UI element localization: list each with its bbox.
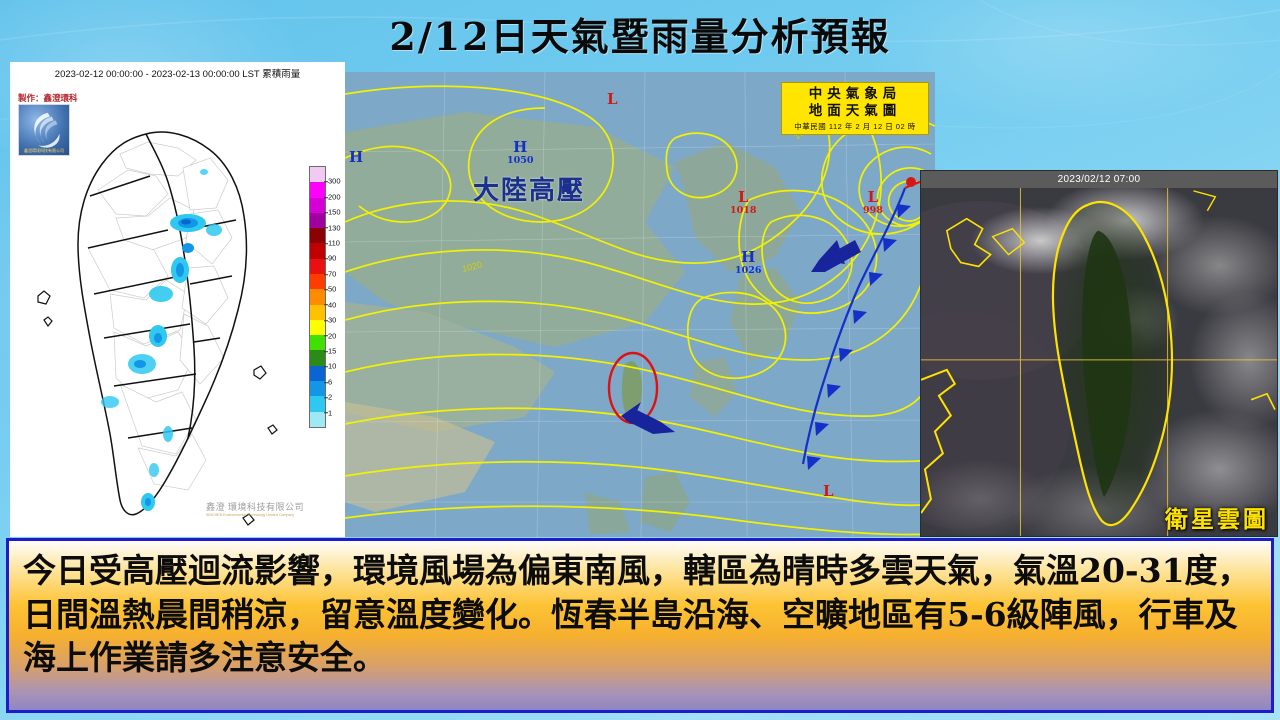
pressure-marker-low-1018: L 1018 [730,190,756,216]
legend-color-segment [310,213,325,228]
legend-color-segment [310,198,325,213]
taiwan-rainfall-map[interactable] [28,98,298,528]
legend-color-segment [310,366,325,381]
low-pressure-glyph: L [607,92,618,108]
rainfall-map-panel[interactable]: 2023-02-12 00:00:00 - 2023-02-13 00:00:0… [10,62,345,537]
watermark-subtext: SINCHEN Environmental Technology Limited… [206,513,304,517]
legend-tick-label: 20 [328,332,336,340]
legend-color-segment [310,381,325,396]
legend-tick-label: 2 [328,393,332,401]
cwb-stamp-line2: 地面天氣圖 [784,103,926,120]
satellite-image-graphics[interactable] [921,171,1277,536]
satellite-image-panel[interactable]: 2023/02/12 07:00 [920,170,1278,537]
synoptic-chart-graphics[interactable]: 1020 1040 [345,72,935,537]
cwb-stamp-line3: 中華民國 112 年 2 月 12 日 02 時 [784,121,926,132]
high-pressure-glyph: H [507,140,533,156]
pressure-marker-high-west: H [349,150,363,166]
legend-color-segment [310,243,325,258]
pressure-marker-low-south: L [823,484,834,500]
legend-color-segment [310,167,325,182]
cwb-chart-stamp: 中央氣象局 地面天氣圖 中華民國 112 年 2 月 12 日 02 時 [781,82,929,135]
low-pressure-value: 998 [863,206,883,216]
rainfall-legend: 3002001501301109070504030201510621 [302,166,342,428]
legend-color-segment [310,396,325,411]
legend-tick-label: 90 [328,255,336,263]
legend-tick-label: 1 [328,409,332,417]
legend-color-segment [310,335,325,350]
high-pressure-value: 1050 [507,156,533,166]
legend-color-segment [310,305,325,320]
legend-tick-label: 200 [328,193,341,201]
rainfall-map-watermark: 鑫澄 環境科技有限公司 SINCHEN Environmental Techno… [206,500,304,517]
watermark-text: 鑫澄 環境科技有限公司 [206,502,304,512]
legend-color-segment [310,350,325,365]
annotation-continental-high: 大陸高壓 [473,170,585,207]
legend-color-segment [310,259,325,274]
rainfall-map-header: 2023-02-12 00:00:00 - 2023-02-13 00:00:0… [10,66,345,80]
page-title: 2/12日天氣暨雨量分析預報 [0,6,1280,61]
legend-tick-label: 150 [328,208,341,216]
legend-tick-label: 30 [328,316,336,324]
legend-tick-label: 15 [328,347,336,355]
legend-tick-label: 40 [328,301,336,309]
legend-tick-label: 300 [328,178,341,186]
high-pressure-glyph: H [349,150,363,166]
pressure-marker-low-998: L 998 [863,190,883,216]
legend-color-segment [310,274,325,289]
forecast-summary-text: 今日受高壓迴流影響，環境風場為偏東南風，轄區為晴時多雲天氣，氣溫20-31度，日… [23,549,1257,680]
legend-color-segment [310,320,325,335]
forecast-summary-box: 今日受高壓迴流影響，環境風場為偏東南風，轄區為晴時多雲天氣，氣溫20-31度，日… [6,538,1274,713]
legend-color-segment [310,182,325,197]
surface-weather-chart-panel[interactable]: 1020 1040 大陸高壓 H 1050 L 1018 H 1026 L 99… [345,72,935,537]
legend-color-segment [310,289,325,304]
satellite-caption: 衛星雲圖 [1165,500,1269,534]
pressure-marker-high-1050: H 1050 [507,140,533,166]
pressure-marker-low-north: L [607,92,618,108]
satellite-timestamp: 2023/02/12 07:00 [921,171,1277,188]
legend-color-segment [310,412,325,427]
low-pressure-glyph: L [730,190,756,206]
high-pressure-glyph: H [735,250,761,266]
rainfall-legend-colorbar [309,166,326,428]
cwb-stamp-line1: 中央氣象局 [784,86,926,103]
legend-tick-label: 50 [328,286,336,294]
legend-tick-label: 6 [328,378,332,386]
low-pressure-glyph: L [823,484,834,500]
legend-tick-label: 130 [328,224,341,232]
rainfall-legend-ticks: 3002001501301109070504030201510621 [328,166,344,428]
flow-arrow-east [811,240,861,272]
high-pressure-value: 1026 [735,266,761,276]
infographic-canvas: 2/12日天氣暨雨量分析預報 2023-02-12 00:00:00 - 202… [0,0,1280,720]
low-pressure-value: 1018 [730,206,756,216]
legend-tick-label: 110 [328,239,340,247]
legend-color-segment [310,228,325,243]
pressure-marker-high-1026: H 1026 [735,250,761,276]
legend-tick-label: 70 [328,270,336,278]
legend-tick-label: 10 [328,363,336,371]
low-pressure-glyph: L [863,190,883,206]
